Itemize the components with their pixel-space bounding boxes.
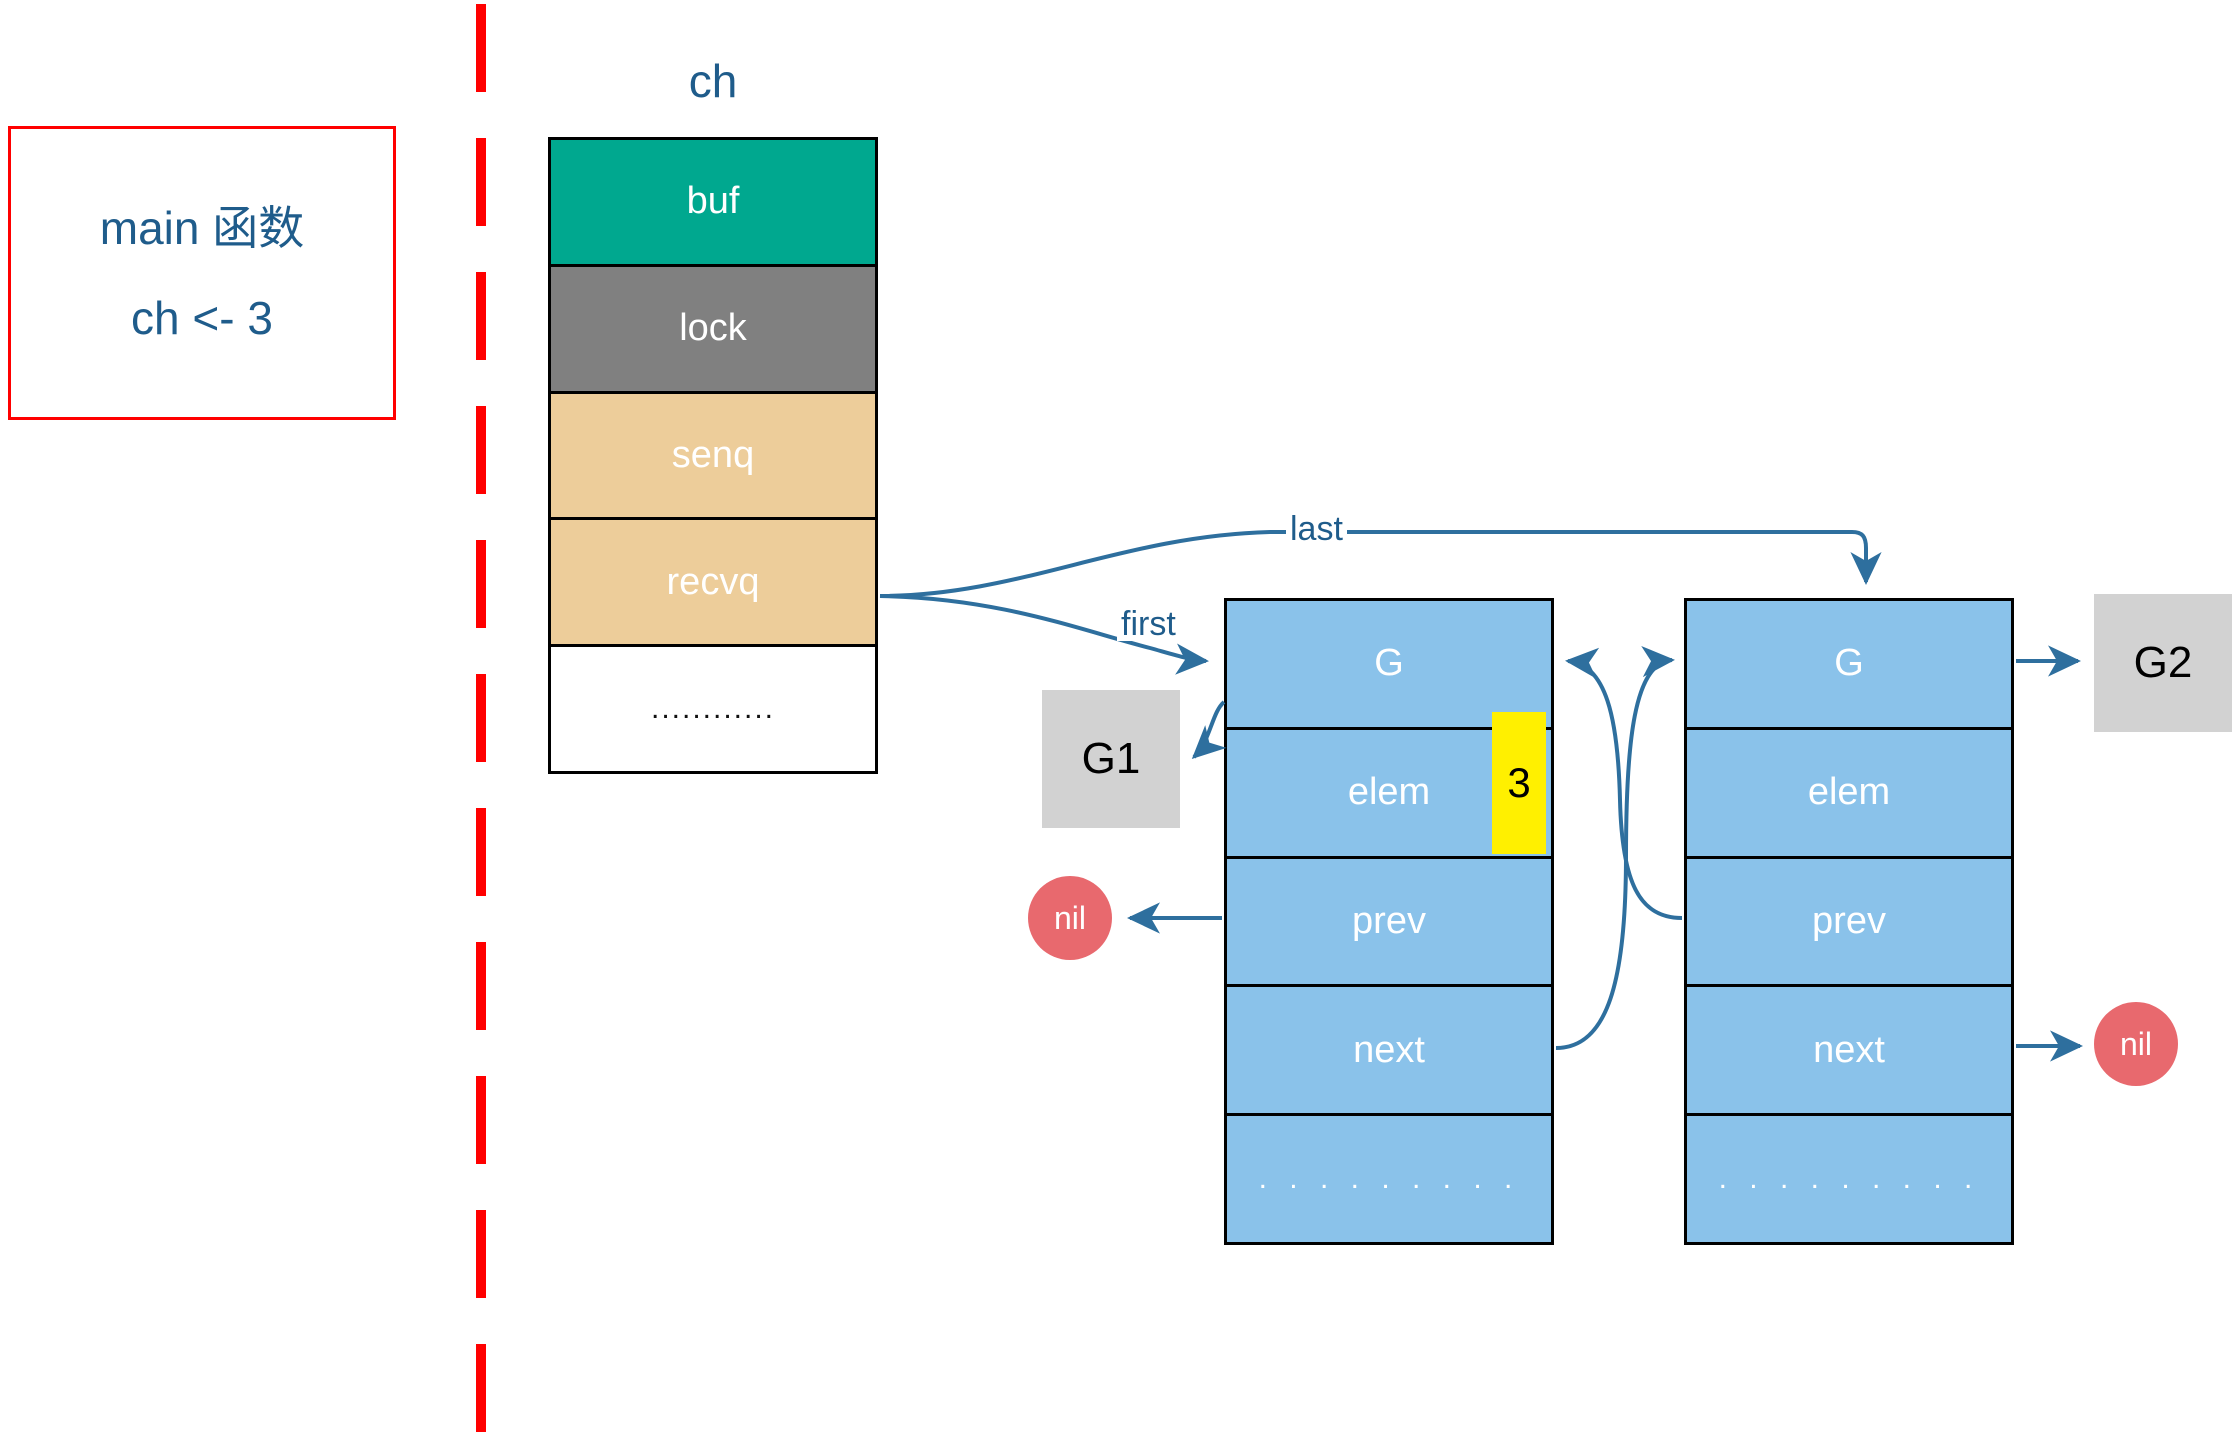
channel-row-buf: buf [551, 140, 875, 267]
node2-row-prev: prev [1687, 859, 2011, 988]
wire-node1-next-to-node2 [1556, 660, 1672, 1048]
node2-row-g: G [1687, 601, 2011, 730]
channel-row-lock: lock [551, 267, 875, 394]
node2-row-next: next [1687, 987, 2011, 1116]
nil-circle-next: nil [2094, 1002, 2178, 1086]
goroutine-chip-g2: G2 [2094, 594, 2232, 732]
goroutine-chip-g1: G1 [1042, 690, 1180, 828]
channel-row-more: ............ [551, 647, 875, 771]
sudog-node-1: G elem prev next . . . . . . . . . [1224, 598, 1554, 1245]
channel-row-recvq: recvq [551, 520, 875, 647]
channel-label: ch [548, 58, 878, 104]
node2-row-more: . . . . . . . . . [1687, 1116, 2011, 1242]
node1-row-prev: prev [1227, 859, 1551, 988]
sudog-node-2: G elem prev next . . . . . . . . . [1684, 598, 2014, 1245]
red-dashed-divider [476, 0, 486, 1436]
wire-node2-prev-to-node1 [1568, 661, 1682, 918]
wire-node1-g-to-g1 [1194, 702, 1224, 757]
pointer-label-last: last [1286, 512, 1347, 546]
main-function-statement: ch <- 3 [131, 295, 273, 341]
channel-row-senq: senq [551, 394, 875, 521]
node1-row-more: . . . . . . . . . [1227, 1116, 1551, 1242]
elem-value-chip: 3 [1492, 712, 1546, 854]
channel-struct-box: buf lock senq recvq ............ [548, 137, 878, 774]
pointer-label-first: first [1117, 607, 1180, 641]
node2-row-elem: elem [1687, 730, 2011, 859]
nil-circle-prev: nil [1028, 876, 1112, 960]
main-function-title: main 函数 [100, 205, 304, 251]
node1-row-g: G [1227, 601, 1551, 730]
main-function-box: main 函数 ch <- 3 [8, 126, 396, 420]
node1-row-next: next [1227, 987, 1551, 1116]
diagram-canvas: main 函数 ch <- 3 ch buf lock senq recvq .… [0, 0, 2232, 1436]
wire-recvq-to-last [880, 532, 1866, 596]
